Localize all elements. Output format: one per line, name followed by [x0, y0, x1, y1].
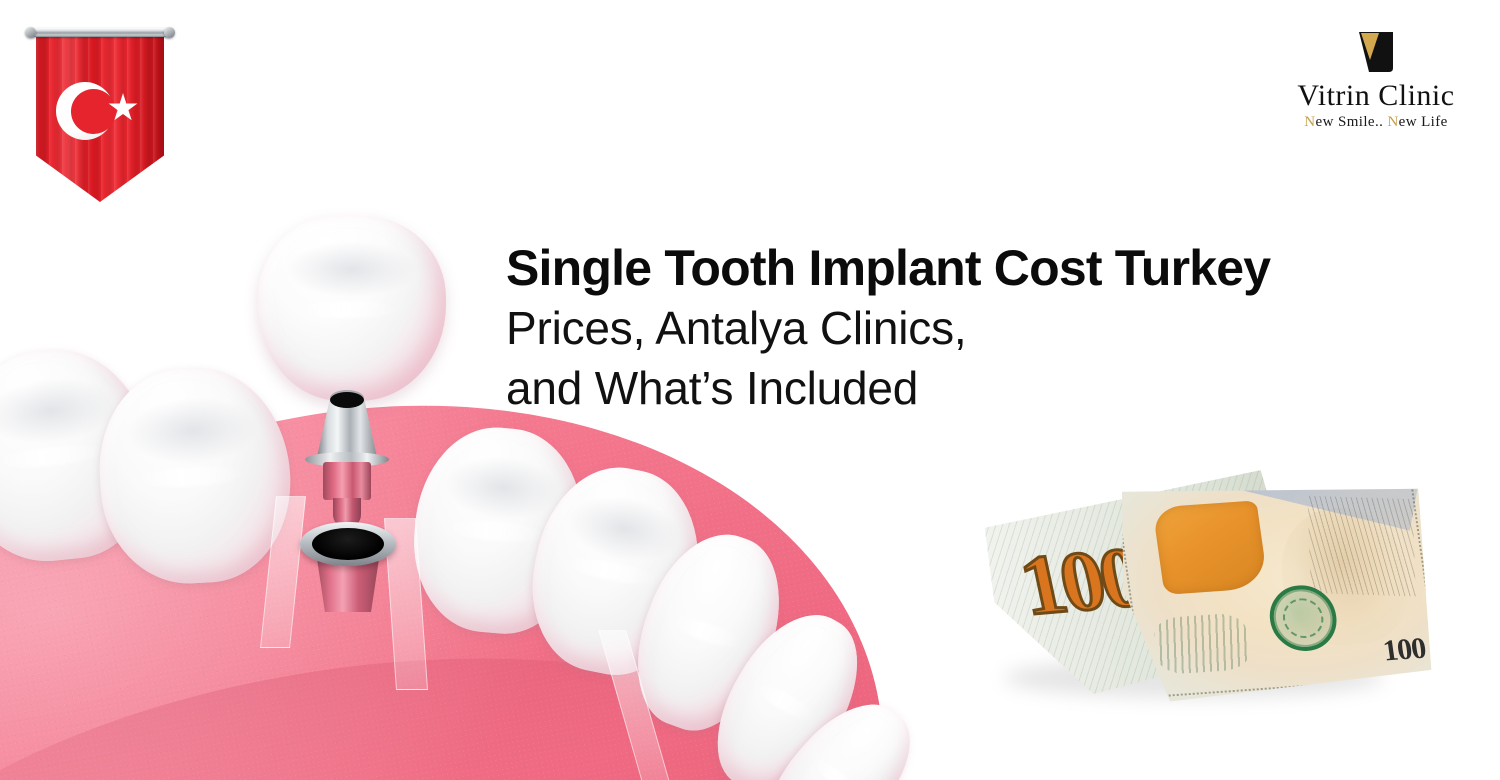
clinic-name: Vitrin Clinic [1286, 80, 1466, 112]
tooth-gloss [754, 680, 817, 726]
page-subtitle-line-1: Prices, Antalya Clinics, [506, 298, 1486, 358]
page-title: Single Tooth Implant Cost Turkey [506, 238, 1486, 298]
tagline-initial-2: N [1387, 114, 1398, 130]
tooth-cusp [0, 373, 118, 449]
pennant-cloth [36, 36, 164, 202]
rod-cap-right-icon [164, 27, 175, 38]
tooth-cusp [443, 452, 562, 523]
vitrin-logo-mark-icon [1355, 30, 1397, 76]
crescent-icon [56, 82, 114, 140]
tagline-rest-2: ew Life [1399, 114, 1448, 130]
implant-abutment-bore [330, 392, 364, 408]
implant-crown [258, 216, 446, 401]
clinic-logo[interactable]: Vitrin Clinic New Smile.. New Life [1286, 30, 1466, 131]
tooth-gloss [669, 611, 743, 652]
tooth-gloss [448, 518, 543, 545]
tooth-gloss [811, 755, 862, 780]
clinic-tagline: New Smile.. New Life [1286, 114, 1466, 131]
tooth-cusp [564, 488, 684, 570]
tooth-gloss [0, 441, 105, 471]
crown-gloss [296, 301, 401, 318]
implant-abutment-neck [323, 462, 371, 500]
tagline-rest-1: ew Smile.. [1316, 114, 1384, 130]
pennant-rod [28, 28, 172, 37]
tooth-cusp [126, 395, 258, 466]
us-dollar-banknotes: 100 100 [988, 462, 1440, 714]
tagline-initial-1: N [1304, 114, 1315, 130]
turkish-flag-pennant [28, 28, 172, 203]
tooth-gloss [138, 464, 245, 489]
banknote-border [1114, 468, 1440, 699]
hero-banner: Vitrin Clinic New Smile.. New Life [0, 0, 1500, 780]
crown-cusp [288, 242, 416, 298]
banknote-front: 100 [1109, 462, 1446, 703]
page-subtitle-line-2: and What’s Included [506, 358, 1486, 418]
crescent-inner [71, 89, 116, 134]
rod-cap-left-icon [25, 27, 36, 38]
implant-socket-hole [312, 528, 384, 560]
headline-block: Single Tooth Implant Cost Turkey Prices,… [506, 238, 1486, 418]
